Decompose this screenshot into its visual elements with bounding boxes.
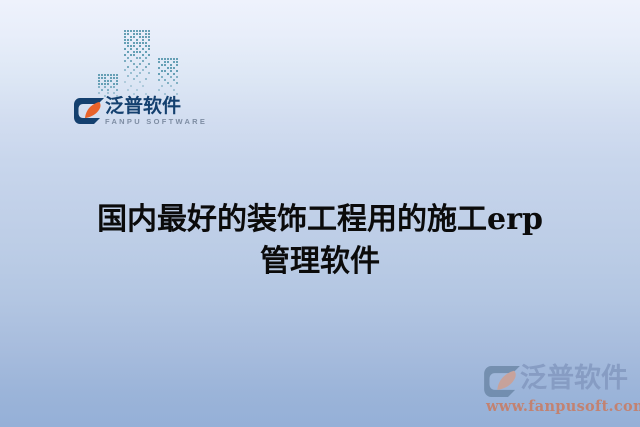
brand-logo: 泛普软件 FANPU SOFTWARE bbox=[74, 96, 204, 132]
watermark-mark-accent-swoosh bbox=[497, 371, 516, 390]
watermark-logo-row: 泛普软件 bbox=[478, 362, 640, 398]
fanpu-watermark-mark-icon bbox=[484, 366, 520, 397]
pixel-city-skyline-graphic bbox=[96, 28, 188, 102]
page-title-line-1: 国内最好的装饰工程用的施工erp bbox=[0, 199, 640, 241]
brand-name-cn: 泛普软件 bbox=[105, 96, 203, 117]
watermark-url: www.fanpusoft.com bbox=[486, 398, 640, 415]
brand-wordmark: 泛普软件 FANPU SOFTWARE bbox=[105, 96, 203, 127]
fanpu-logo-mark-icon bbox=[74, 98, 104, 124]
page-title: 国内最好的装饰工程用的施工erp 管理软件 bbox=[0, 199, 640, 283]
brand-name-en: FANPU SOFTWARE bbox=[105, 117, 203, 127]
pixel-city-svg bbox=[96, 28, 188, 102]
slide-canvas: 泛普软件 FANPU SOFTWARE 国内最好的装饰工程用的施工erp 管理软… bbox=[0, 0, 640, 427]
fanpu-logo-mark-svg bbox=[74, 98, 104, 124]
watermark-name-cn: 泛普软件 bbox=[520, 362, 628, 396]
fanpu-watermark-mark-svg bbox=[484, 366, 520, 397]
watermark: 泛普软件 www.fanpusoft.com bbox=[478, 362, 640, 420]
page-title-line-2: 管理软件 bbox=[0, 241, 640, 283]
mark-accent-swoosh bbox=[85, 102, 101, 118]
